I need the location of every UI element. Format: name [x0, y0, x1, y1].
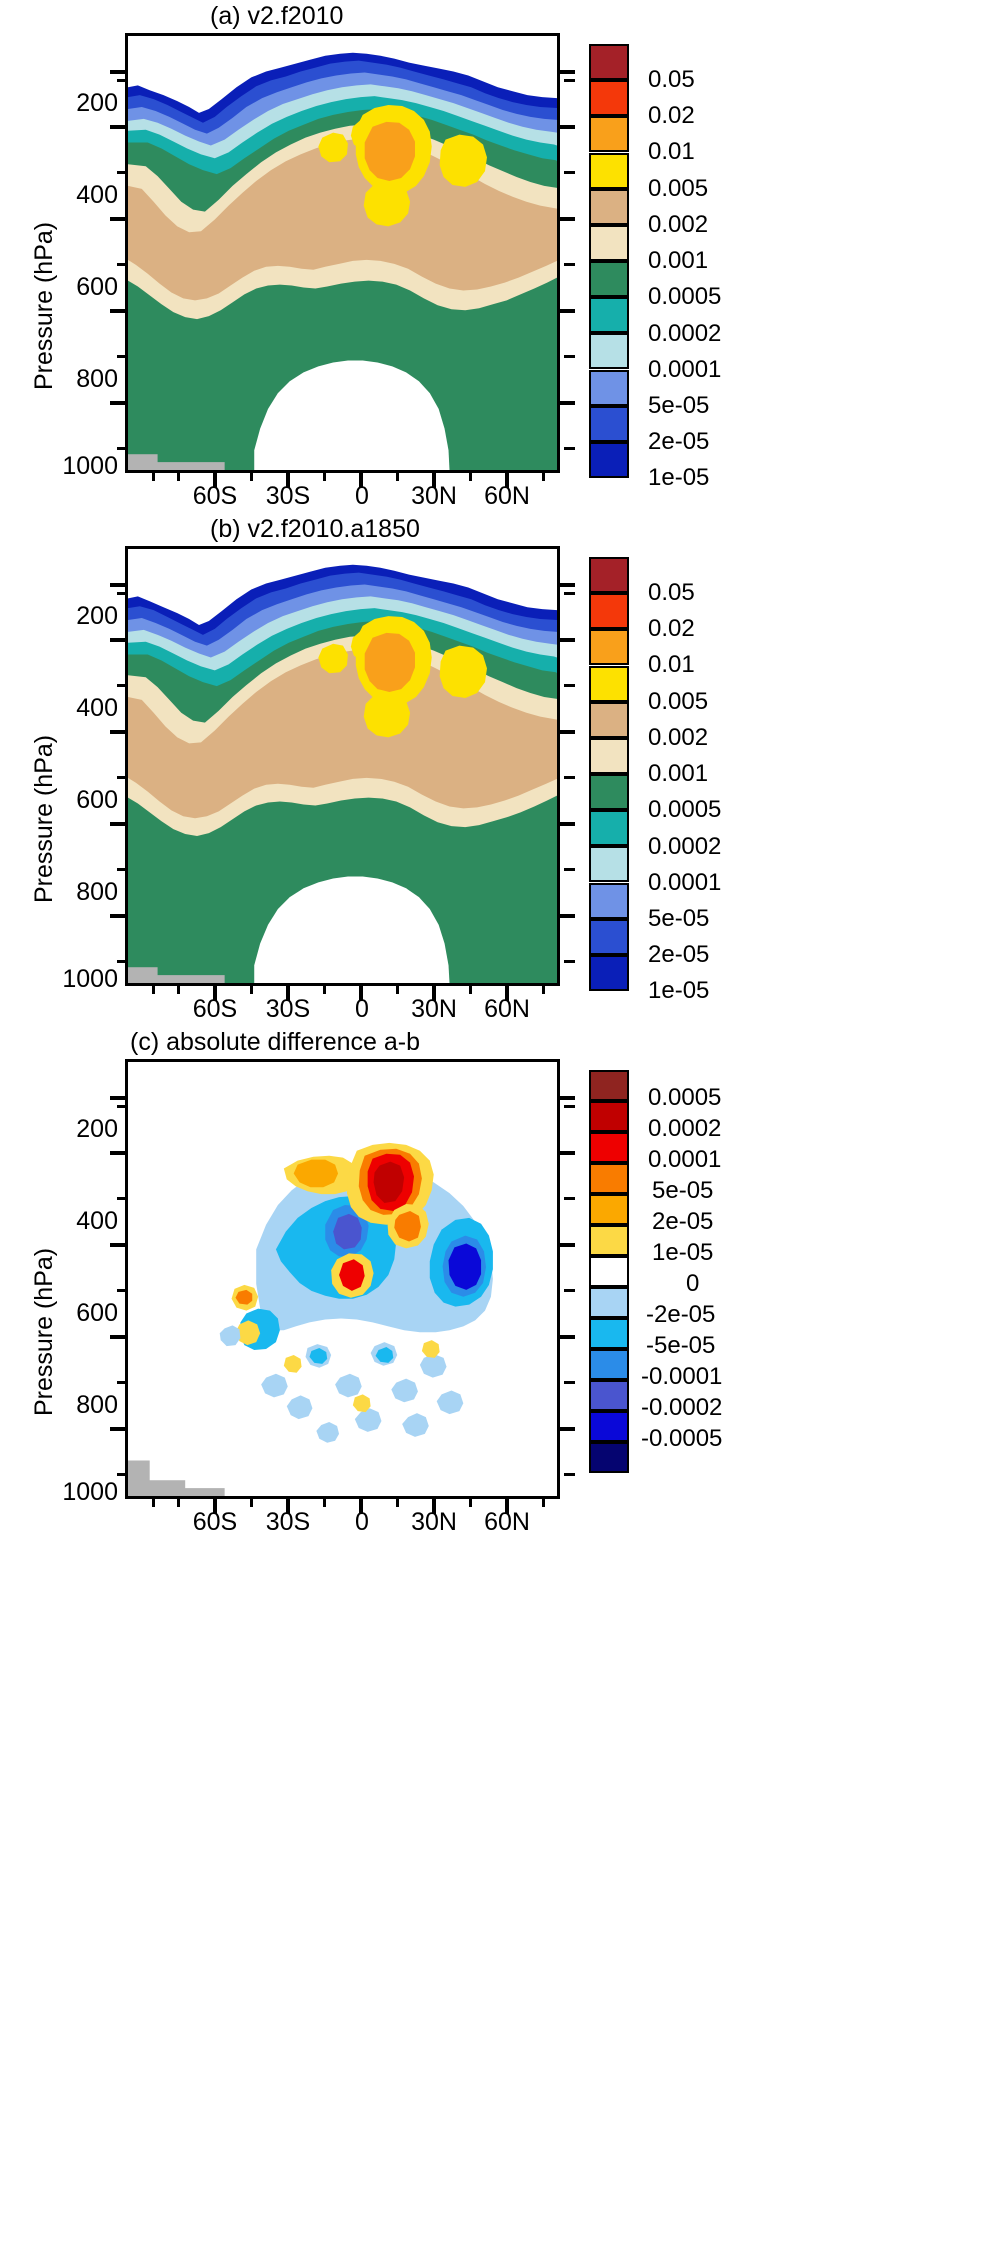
cbar-a-cell-11 [589, 442, 629, 478]
panel-c-title: (c) absolute difference a-b [130, 1028, 420, 1057]
cbar-b-label-7: 0.0002 [648, 833, 721, 861]
cbar-c-cell-1 [589, 1101, 629, 1132]
cbar-b-label-6: 0.0005 [648, 796, 721, 824]
cbar-b-cell-3 [589, 666, 629, 702]
panel-c-colorbar [589, 1070, 629, 1504]
cbar-b-cell-2 [589, 629, 629, 665]
panel-b-ytick-400: 400 [48, 694, 118, 723]
cbar-c-cell-7 [589, 1287, 629, 1318]
cbar-a-cell-1 [589, 80, 629, 116]
cbar-c-cell-12 [589, 1442, 629, 1473]
cbar-b-label-1: 0.02 [648, 615, 695, 643]
panel-a-ytick-400: 400 [48, 181, 118, 210]
panel-c-ytick-400: 400 [48, 1207, 118, 1236]
cbar-b-cell-0 [589, 557, 629, 593]
panel-a-title: (a) v2.f2010 [210, 2, 343, 31]
panel-a-ytick-600: 600 [48, 273, 118, 302]
panel-a-contour-field [128, 36, 557, 470]
cbar-b-cell-7 [589, 810, 629, 846]
cbar-b-label-0: 0.05 [648, 579, 695, 607]
cbar-a-label-10: 2e-05 [648, 428, 709, 456]
cbar-c-label-9: -0.0001 [641, 1363, 722, 1391]
cbar-c-label-10: -0.0002 [641, 1394, 722, 1422]
cbar-b-label-5: 0.001 [648, 760, 708, 788]
cbar-b-cell-4 [589, 702, 629, 738]
cbar-c-cell-8 [589, 1318, 629, 1349]
cbar-c-label-6: 0 [686, 1270, 699, 1298]
panel-c-plot [125, 1059, 560, 1499]
figure-root: (a) v2.f2010 Pressure (hPa) 200 400 600 … [0, 0, 997, 2246]
cbar-a-cell-8 [589, 333, 629, 369]
cbar-c-label-7: -2e-05 [646, 1301, 715, 1329]
cbar-c-label-1: 0.0002 [648, 1115, 721, 1143]
cbar-a-cell-10 [589, 406, 629, 442]
panel-a-plot [125, 33, 560, 473]
cbar-b-label-4: 0.002 [648, 724, 708, 752]
cbar-a-label-3: 0.005 [648, 175, 708, 203]
panel-c: (c) absolute difference a-b Pressure (hP… [0, 1026, 997, 1786]
cbar-a-label-6: 0.0005 [648, 283, 721, 311]
cbar-b-cell-8 [589, 846, 629, 882]
panel-b-plot [125, 546, 560, 986]
cbar-b-label-3: 0.005 [648, 688, 708, 716]
cbar-c-label-0: 0.0005 [648, 1084, 721, 1112]
cbar-b-label-8: 0.0001 [648, 869, 721, 897]
panel-c-ytick-600: 600 [48, 1299, 118, 1328]
cbar-a-label-0: 0.05 [648, 66, 695, 94]
cbar-a-label-4: 0.002 [648, 211, 708, 239]
cbar-c-cell-11 [589, 1411, 629, 1442]
panel-b-title: (b) v2.f2010.a1850 [210, 515, 420, 544]
cbar-a-cell-3 [589, 153, 629, 189]
panel-b-contour-field [128, 549, 557, 983]
cbar-c-label-11: -0.0005 [641, 1425, 722, 1453]
cbar-b-cell-9 [589, 883, 629, 919]
cbar-c-cell-6 [589, 1256, 629, 1287]
cbar-a-label-11: 1e-05 [648, 464, 709, 492]
cbar-b-cell-1 [589, 593, 629, 629]
cbar-c-label-2: 0.0001 [648, 1146, 721, 1174]
panel-a-colorbar [589, 44, 629, 478]
cbar-c-cell-4 [589, 1194, 629, 1225]
panel-a-ytick-800: 800 [48, 365, 118, 394]
cbar-c-cell-9 [589, 1349, 629, 1380]
panel-c-ytick-800: 800 [48, 1391, 118, 1420]
cbar-a-cell-0 [589, 44, 629, 80]
panel-b-colorbar [589, 557, 629, 991]
panel-b-ytick-1000: 1000 [28, 965, 118, 994]
cbar-a-cell-2 [589, 116, 629, 152]
cbar-c-label-5: 1e-05 [652, 1239, 713, 1267]
panel-b-ytick-600: 600 [48, 786, 118, 815]
panel-c-difference-field [128, 1062, 557, 1496]
panel-b-ytick-800: 800 [48, 878, 118, 907]
cbar-a-label-7: 0.0002 [648, 320, 721, 348]
cbar-c-cell-0 [589, 1070, 629, 1101]
cbar-c-cell-10 [589, 1380, 629, 1411]
panel-c-ytick-1000: 1000 [28, 1478, 118, 1507]
cbar-b-cell-6 [589, 774, 629, 810]
cbar-c-label-3: 5e-05 [652, 1177, 713, 1205]
cbar-a-cell-7 [589, 297, 629, 333]
cbar-a-label-8: 0.0001 [648, 356, 721, 384]
cbar-b-label-9: 5e-05 [648, 905, 709, 933]
panel-a-ytick-1000: 1000 [28, 452, 118, 481]
cbar-a-label-5: 0.001 [648, 247, 708, 275]
panel-b-ytick-200: 200 [48, 602, 118, 631]
cbar-a-label-9: 5e-05 [648, 392, 709, 420]
cbar-b-label-10: 2e-05 [648, 941, 709, 969]
cbar-b-label-2: 0.01 [648, 651, 695, 679]
cbar-a-cell-4 [589, 189, 629, 225]
cbar-b-cell-11 [589, 955, 629, 991]
cbar-c-cell-5 [589, 1225, 629, 1256]
cbar-b-label-11: 1e-05 [648, 977, 709, 1005]
cbar-a-cell-9 [589, 370, 629, 406]
cbar-a-cell-5 [589, 225, 629, 261]
cbar-c-cell-2 [589, 1132, 629, 1163]
panel-c-ytick-200: 200 [48, 1115, 118, 1144]
cbar-b-cell-10 [589, 919, 629, 955]
cbar-c-label-4: 2e-05 [652, 1208, 713, 1236]
cbar-c-label-8: -5e-05 [646, 1332, 715, 1360]
cbar-c-cell-3 [589, 1163, 629, 1194]
cbar-a-label-1: 0.02 [648, 102, 695, 130]
panel-a-ytick-200: 200 [48, 89, 118, 118]
cbar-b-cell-5 [589, 738, 629, 774]
cbar-a-label-2: 0.01 [648, 138, 695, 166]
cbar-a-cell-6 [589, 261, 629, 297]
